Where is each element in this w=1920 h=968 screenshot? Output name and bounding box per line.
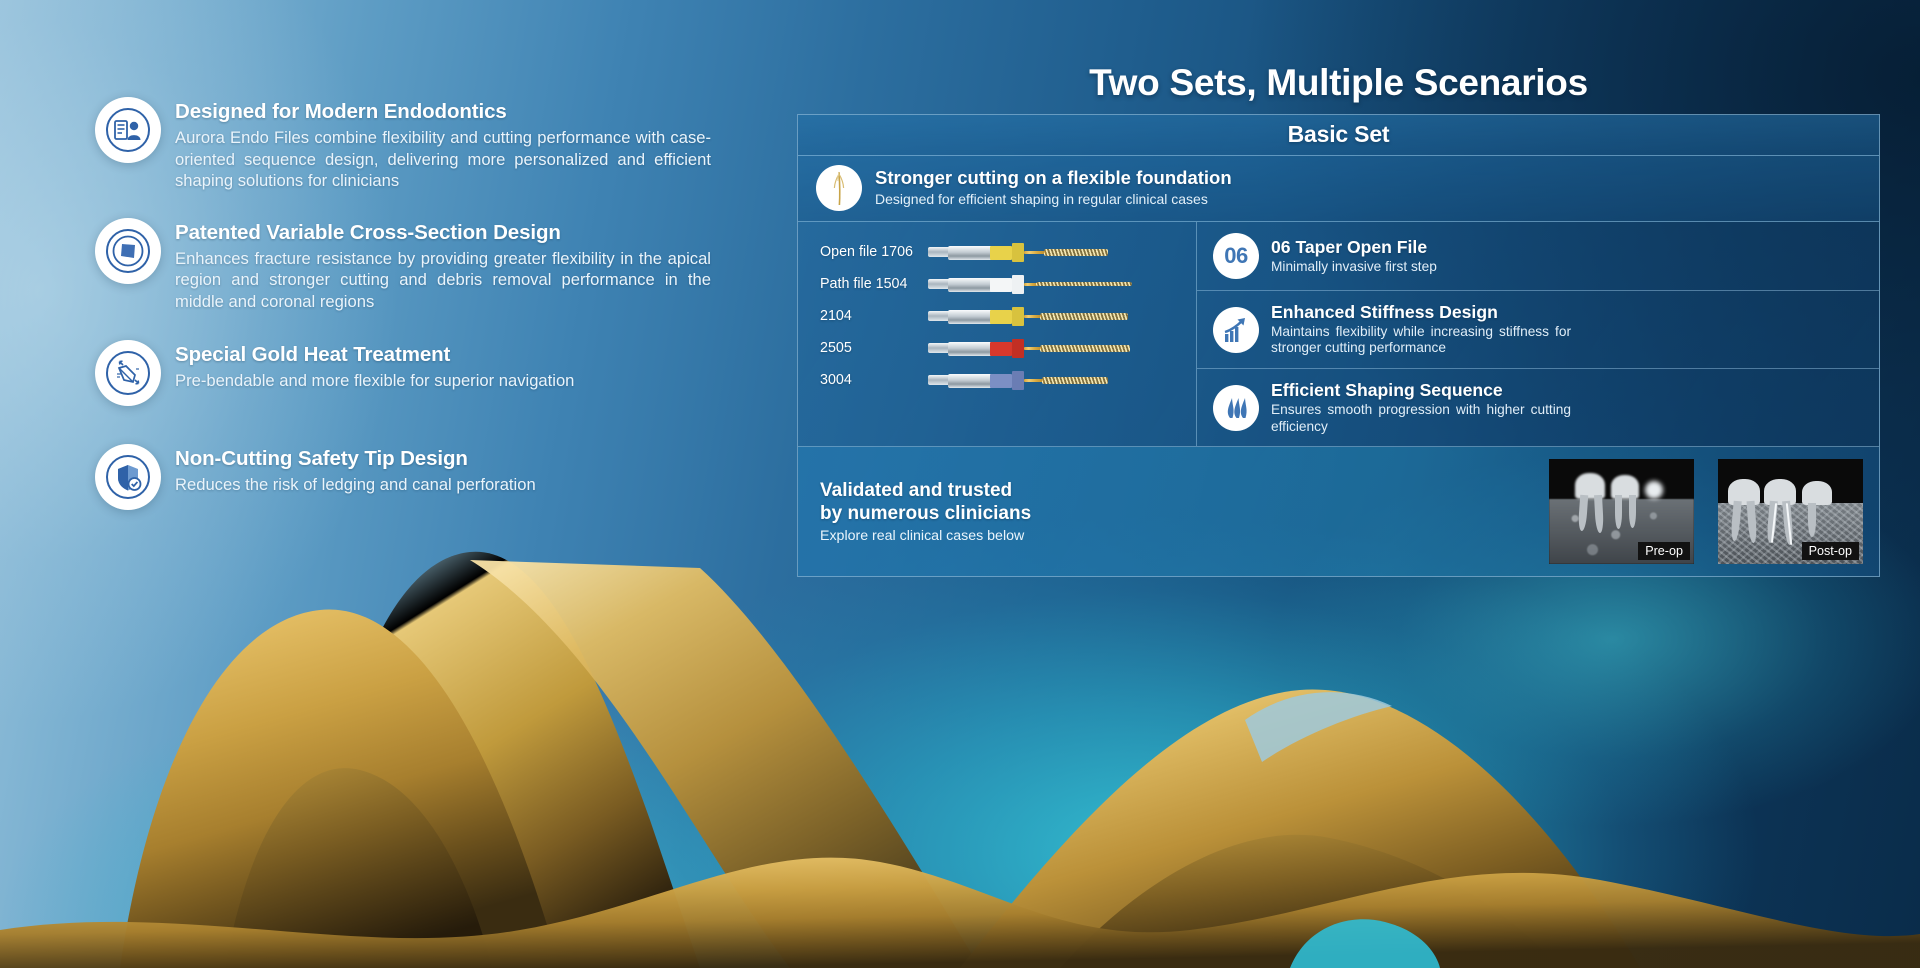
file-label: 2104 <box>820 308 928 324</box>
feature-card: Efficient Shaping Sequence Ensures smoot… <box>1197 369 1879 446</box>
basic-set-panel: Basic Set Stronger cutting on a flexible… <box>797 114 1880 577</box>
feature-item: Designed for Modern Endodontics Aurora E… <box>95 95 755 192</box>
validation-title-line1: Validated and trusted <box>820 479 1549 502</box>
cross-section-icon <box>95 218 161 284</box>
feature-title: Special Gold Heat Treatment <box>175 342 574 367</box>
feature-description: Enhances fracture resistance by providin… <box>175 248 711 313</box>
xray-image-preop[interactable]: Pre-op <box>1549 459 1694 564</box>
validation-row: Validated and trusted by numerous clinic… <box>798 447 1879 576</box>
page-title: Two Sets, Multiple Scenarios <box>797 62 1880 104</box>
shield-check-icon <box>95 444 161 510</box>
file-label: 3004 <box>820 372 928 388</box>
heat-treatment-icon <box>95 340 161 406</box>
file-sequence-list: Open file 1706 Path file 1504 <box>798 222 1197 446</box>
file-illustration <box>928 241 1188 263</box>
card-badge-number: 06 <box>1224 243 1247 269</box>
feature-title: Patented Variable Cross-Section Design <box>175 220 711 245</box>
feature-item: Patented Variable Cross-Section Design E… <box>95 216 755 313</box>
file-row: Path file 1504 <box>820 268 1188 300</box>
xray-image-postop[interactable]: Post-op <box>1718 459 1863 564</box>
endo-file-icon <box>816 165 862 211</box>
file-illustration <box>928 337 1188 359</box>
feature-card: Enhanced Stiffness Design Maintains flex… <box>1197 291 1879 369</box>
card-subtitle: Minimally invasive first step <box>1271 259 1437 276</box>
file-row: Open file 1706 <box>820 236 1188 268</box>
features-list: Designed for Modern Endodontics Aurora E… <box>95 95 755 532</box>
flame-flow-icon <box>1213 385 1259 431</box>
card-title: Efficient Shaping Sequence <box>1271 380 1571 401</box>
feature-description: Aurora Endo Files combine flexibility an… <box>175 127 711 192</box>
xray-label: Post-op <box>1802 542 1859 560</box>
validation-title-line2: by numerous clinicians <box>820 502 1549 525</box>
set-tagline-subtitle: Designed for efficient shaping in regula… <box>875 190 1232 208</box>
feature-title: Non-Cutting Safety Tip Design <box>175 446 536 471</box>
file-row: 3004 <box>820 364 1188 396</box>
file-illustration <box>928 273 1188 295</box>
feature-card: 06 06 Taper Open File Minimally invasive… <box>1197 222 1879 291</box>
sets-panel-section: Two Sets, Multiple Scenarios Basic Set S… <box>797 62 1880 577</box>
file-label: 2505 <box>820 340 928 356</box>
feature-cards-column: 06 06 Taper Open File Minimally invasive… <box>1197 222 1879 446</box>
set-name-header: Basic Set <box>798 115 1879 156</box>
feature-description: Reduces the risk of ledging and canal pe… <box>175 474 536 496</box>
feature-item: Non-Cutting Safety Tip Design Reduces th… <box>95 442 755 510</box>
feature-description: Pre-bendable and more flexible for super… <box>175 370 574 392</box>
file-row: 2505 <box>820 332 1188 364</box>
clinical-case-images: Pre-op Post-op <box>1549 459 1863 564</box>
file-row: 2104 <box>820 300 1188 332</box>
file-illustration <box>928 305 1188 327</box>
feature-item: Special Gold Heat Treatment Pre-bendable… <box>95 338 755 406</box>
number-badge-icon: 06 <box>1213 233 1259 279</box>
file-illustration <box>928 369 1188 391</box>
card-subtitle: Ensures smooth progression with higher c… <box>1271 402 1571 435</box>
card-title: Enhanced Stiffness Design <box>1271 302 1571 323</box>
file-label: Open file 1706 <box>820 244 928 260</box>
set-tagline-title: Stronger cutting on a flexible foundatio… <box>875 167 1232 189</box>
set-tagline-row: Stronger cutting on a flexible foundatio… <box>798 156 1879 222</box>
card-title: 06 Taper Open File <box>1271 237 1437 258</box>
validation-subtitle: Explore real clinical cases below <box>820 528 1549 544</box>
files-and-cards-row: Open file 1706 Path file 1504 <box>798 222 1879 447</box>
bar-chart-up-icon <box>1213 307 1259 353</box>
card-subtitle: Maintains flexibility while increasing s… <box>1271 324 1571 357</box>
patient-record-icon <box>95 97 161 163</box>
feature-title: Designed for Modern Endodontics <box>175 99 711 124</box>
file-label: Path file 1504 <box>820 276 928 292</box>
xray-label: Pre-op <box>1638 542 1690 560</box>
